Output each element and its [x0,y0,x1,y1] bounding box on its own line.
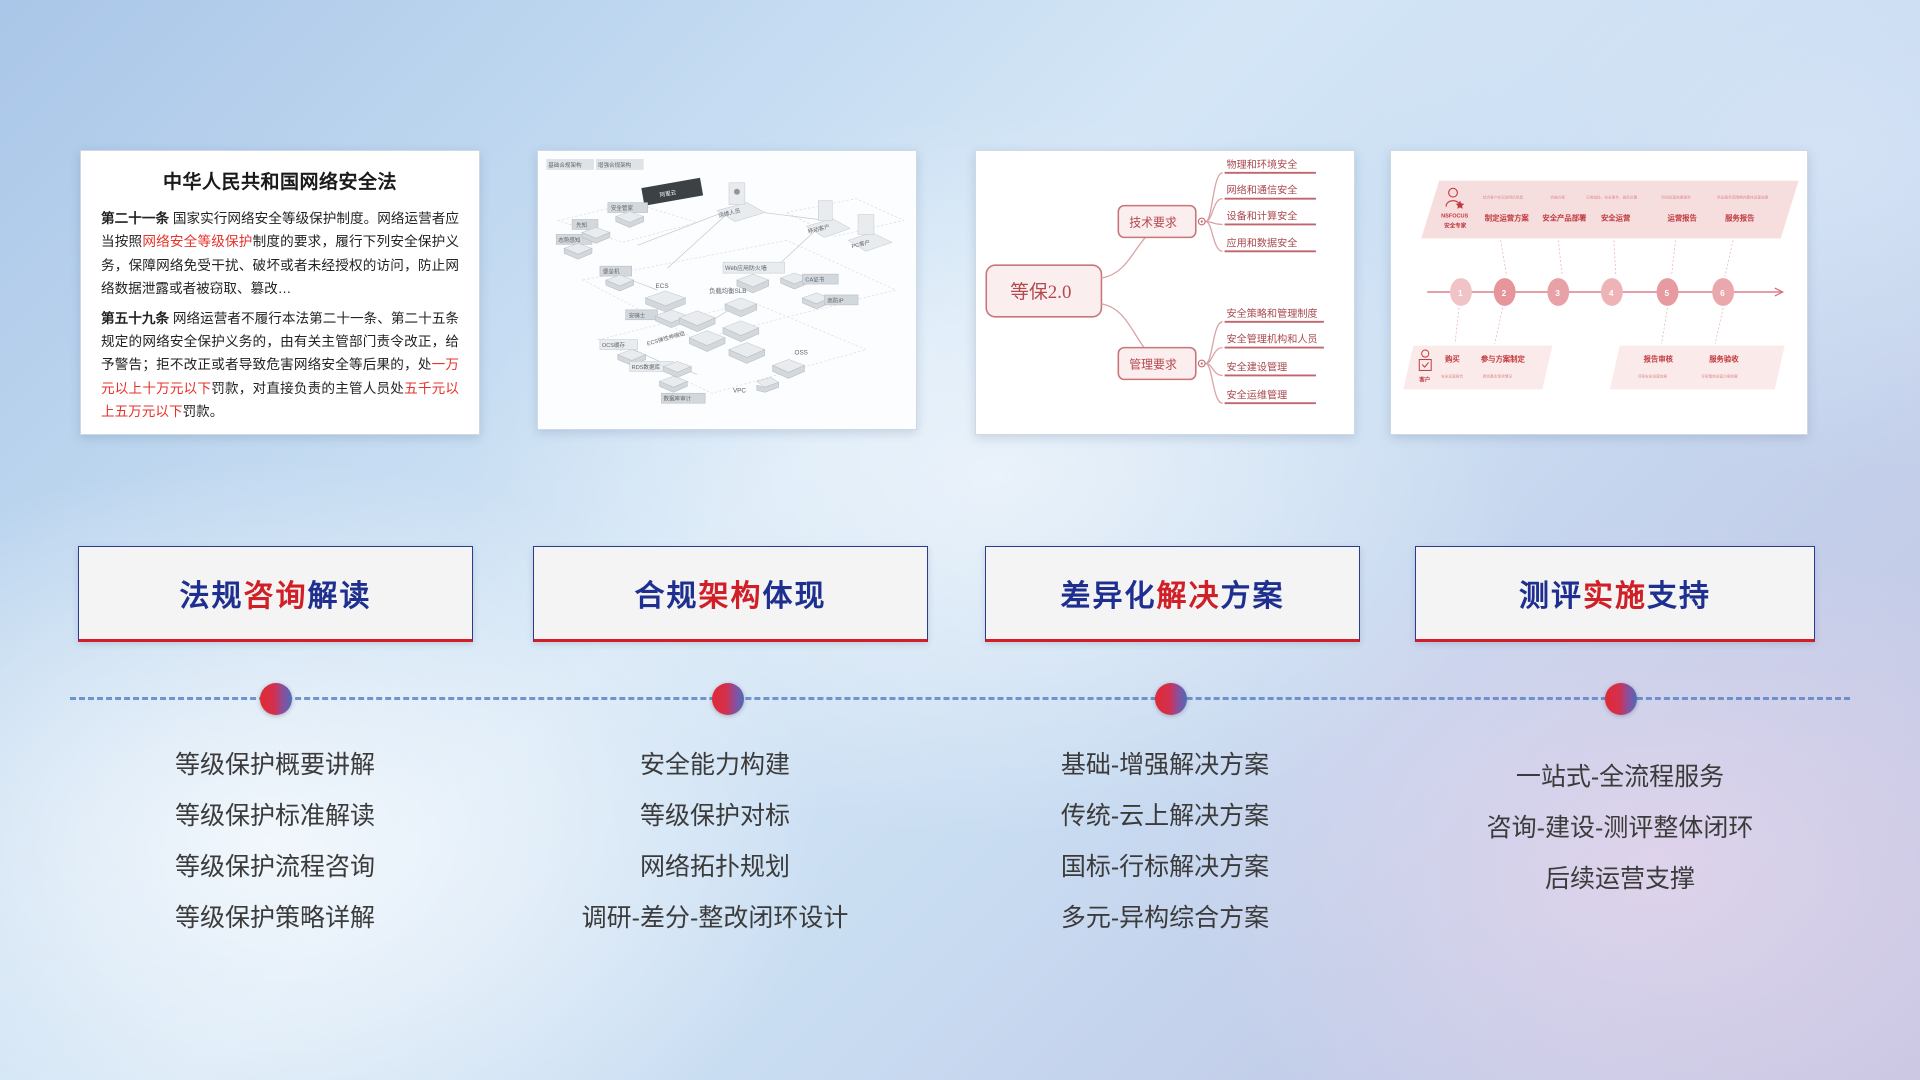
list-item: 等级保护概要讲解 [60,740,490,791]
mindmap-card[interactable]: .mbx{fill:#fbeeee;stroke:#c8767a;stroke-… [975,150,1355,435]
section-title-box-3[interactable]: 差异化解决方案 [985,546,1360,642]
list-item: 多元-异构综合方案 [950,893,1380,944]
svg-text:安全管家: 安全管家 [611,204,634,212]
svg-text:高防IP: 高防IP [827,296,844,304]
mindmap-leaf: 安全策略和管理制度 [1227,307,1318,320]
list-item: 等级保护标准解读 [60,791,490,842]
cards-row: 中华人民共和国网络安全法 第二十一条 国家实行网络安全等级保护制度。网络运营者应… [0,150,1920,450]
svg-text:堡垒机: 堡垒机 [603,268,620,276]
section-title-box-2[interactable]: 合规架构体现 [533,546,928,642]
nsfocus-svg: .band{fill:#f7dede} .band2{fill:#fbeaea}… [1391,151,1807,434]
expert-subtitle: 安全专家 [1444,221,1467,229]
law-run-highlight: 网络安全等级保护 [142,234,252,249]
top-label: 服务报告 [1725,214,1755,223]
mindmap-leaf: 安全建设管理 [1227,360,1288,373]
mindmap-leaf: 安全运维管理 [1227,388,1288,401]
step-number: 2 [1502,288,1507,298]
svg-text:负载均衡SLB: 负载均衡SLB [709,286,746,295]
list-item: 网络拓扑规划 [500,842,930,893]
top-caption: 给出服务范围期内整体运营效果 [1717,195,1769,200]
section-lists-row: 等级保护概要讲解 等级保护标准解读 等级保护流程咨询 等级保护策略详解 安全能力… [0,740,1920,970]
top-caption: 日常巡检、安全事件、高危处置 [1586,195,1638,200]
list-item: 传统-云上解决方案 [950,791,1380,842]
section-title-box-4[interactable]: 测评实施支持 [1415,546,1815,642]
section-list-1: 等级保护概要讲解 等级保护标准解读 等级保护流程咨询 等级保护策略详解 [60,740,490,944]
mindmap-root-label: 等保2.0 [1010,281,1071,303]
section-title-1: 法规咨询解读 [180,571,372,615]
law-article-label-21: 第二十一条 [101,211,169,226]
bottom-caption: 提供基本现状情况 [1483,373,1513,378]
svg-text:态势感知: 态势感知 [558,236,581,244]
law-paragraph-59: 第五十九条 网络运营者不履行本法第二十一条、第二十五条规定的网络安全保护义务的，… [101,307,459,424]
mindmap-leaf: 设备和计算安全 [1227,210,1298,223]
section-title-2: 合规架构体现 [635,571,827,615]
timeline-dot-1[interactable] [260,683,292,715]
nsfocus-bottom-band-right [1610,346,1785,390]
step-number: 5 [1665,288,1670,298]
top-caption: 阶段运营效果报告 [1662,195,1692,200]
law-run: 罚款。 [183,404,224,419]
svg-text:Web应用防火墙: Web应用防火墙 [725,264,767,272]
law-title: 中华人民共和国网络安全法 [101,167,459,194]
list-item: 调研-差分-整改闭环设计 [500,893,930,944]
step-number: 3 [1555,288,1560,298]
mindmap-leaf: 应用和数据安全 [1227,236,1298,249]
architecture-diagram: .gb{fill:#8f959b} .gl{fill:#e9ecef;strok… [538,151,916,429]
bottom-label: 服务验收 [1709,355,1739,364]
section-title-3: 差异化解决方案 [1061,571,1285,615]
mindmap-diagram: .mbx{fill:#fbeeee;stroke:#c8767a;stroke-… [976,151,1354,434]
step-number: 1 [1458,288,1463,298]
nsfocus-top-band [1421,181,1798,239]
top-label: 安全运营 [1601,214,1631,223]
svg-text:OSS: OSS [795,350,808,357]
step-number: 6 [1720,288,1725,298]
list-item: 安全能力构建 [500,740,930,791]
list-item: 等级保护对标 [500,791,930,842]
list-item: 基础-增强解决方案 [950,740,1380,791]
mindmap-svg: .mbx{fill:#fbeeee;stroke:#c8767a;stroke-… [976,151,1354,434]
svg-text:安骑士: 安骑士 [629,311,646,319]
svg-text:VPC: VPC [733,387,746,394]
mindmap-leaf: 物理和环境安全 [1227,158,1298,171]
top-caption: 结合客户实况说明后续具 [1483,195,1524,200]
top-label: 运营报告 [1668,214,1698,223]
law-run: 罚款，对直接负责的主管人员处 [211,381,404,396]
svg-text:数据库审计: 数据库审计 [663,395,691,403]
bottom-caption: 评审安全运营效果 [1638,373,1668,378]
top-label: 安全产品部署 [1542,214,1587,223]
cybersecurity-law-card[interactable]: 中华人民共和国网络安全法 第二十一条 国家实行网络安全等级保护制度。网络运营者应… [80,150,480,435]
svg-text:ECS: ECS [656,283,669,290]
list-item: 国标-行标解决方案 [950,842,1380,893]
bottom-label: 购买 [1444,355,1460,364]
section-title-4: 测评实施支持 [1519,571,1711,615]
architecture-svg: .gb{fill:#8f959b} .gl{fill:#e9ecef;strok… [538,151,916,429]
timeline-dot-3[interactable] [1155,683,1187,715]
section-list-2: 安全能力构建 等级保护对标 网络拓扑规划 调研-差分-整改闭环设计 [500,740,930,944]
bottom-label: 参与方案制定 [1481,355,1526,364]
expert-title: NSFOCUS [1441,214,1468,220]
list-item: 一站式-全流程服务 [1395,752,1845,803]
nsfocus-diagram: .band{fill:#f7dede} .band2{fill:#fbeaea}… [1391,151,1807,434]
section-titles-row: 法规咨询解读 合规架构体现 差异化解决方案 测评实施支持 [0,546,1920,642]
cloud-architecture-card[interactable]: .gb{fill:#8f959b} .gl{fill:#e9ecef;strok… [537,150,917,430]
bottom-caption: 安全运营报告 [1441,373,1463,378]
top-caption: 实施方案 [1550,195,1565,200]
nsfocus-timeline-card[interactable]: .band{fill:#f7dede} .band2{fill:#fbeaea}… [1390,150,1808,435]
timeline-dot-2[interactable] [712,683,744,715]
list-item: 咨询-建设-测评整体闭环 [1395,803,1845,854]
arch-tab-base: 基础合规架构 [548,161,582,169]
svg-text:CA证书: CA证书 [805,276,824,284]
section-title-box-1[interactable]: 法规咨询解读 [78,546,473,642]
law-article-label-59: 第五十九条 [101,311,169,326]
mindmap-leaf: 安全管理机构和人员 [1227,333,1318,346]
arch-tab-enhanced: 增强合规架构 [598,161,632,169]
timeline-dot-4[interactable] [1605,683,1637,715]
bottom-caption: 评审整体运营方案效果 [1701,373,1738,378]
list-item: 等级保护流程咨询 [60,842,490,893]
section-list-4: 一站式-全流程服务 咨询-建设-测评整体闭环 后续运营支撑 [1395,752,1845,905]
mindmap-leaf: 网络和通信安全 [1227,184,1298,197]
mindmap-branch-label-tech: 技术要求 [1129,215,1177,229]
bottom-label: 报告审核 [1644,355,1674,364]
mindmap-branch-label-mgmt: 管理要求 [1129,357,1177,371]
step-number: 4 [1609,288,1614,298]
slide-stage: 中华人民共和国网络安全法 第二十一条 国家实行网络安全等级保护制度。网络运营者应… [0,0,1920,1080]
timeline-dashed-line [70,697,1850,700]
svg-text:RDS数据库: RDS数据库 [632,363,661,371]
list-item: 等级保护策略详解 [60,893,490,944]
law-body: 中华人民共和国网络安全法 第二十一条 国家实行网络安全等级保护制度。网络运营者应… [81,151,479,433]
timeline [0,670,1920,730]
law-paragraph-21: 第二十一条 国家实行网络安全等级保护制度。网络运营者应当按照网络安全等级保护制度… [101,207,459,301]
svg-text:先知: 先知 [576,221,588,229]
top-label: 制定运营方案 [1485,214,1530,223]
svg-text:OCS缓存: OCS缓存 [602,341,626,349]
list-item: 后续运营支撑 [1395,854,1845,905]
section-list-3: 基础-增强解决方案 传统-云上解决方案 国标-行标解决方案 多元-异构综合方案 [950,740,1380,944]
customer-title: 客户 [1418,375,1430,383]
